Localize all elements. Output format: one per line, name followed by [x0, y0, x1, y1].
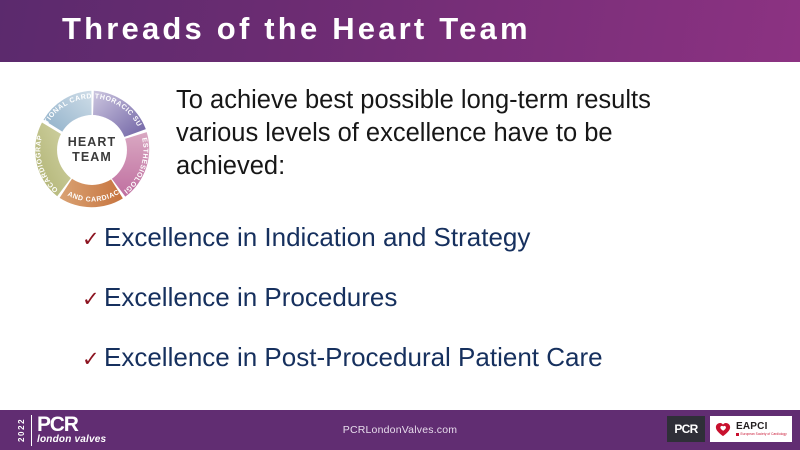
list-item: ✓ Excellence in Indication and Strategy — [82, 222, 782, 282]
badge-pcr-label: PCR — [674, 422, 697, 436]
slide-header: Threads of the Heart Team — [0, 0, 800, 62]
badge-eapci-label: EAPCI — [736, 421, 787, 432]
heart-icon — [714, 420, 732, 438]
badge-eapci-subrow: European Society of Cardiology — [736, 432, 787, 437]
heart-team-donut-diagram: INTERVENTIONAL CARDIOLOGIST CARDIOTHORAC… — [16, 74, 168, 226]
list-item-label: Excellence in Post-Procedural Patient Ca… — [104, 342, 603, 372]
intro-paragraph: To achieve best possible long-term resul… — [176, 84, 692, 183]
check-icon: ✓ — [82, 289, 104, 310]
list-item: ✓ Excellence in Procedures — [82, 282, 782, 342]
donut-hole — [57, 115, 127, 185]
donut-chart-svg: INTERVENTIONAL CARDIOLOGIST CARDIOTHORAC… — [16, 74, 168, 226]
badge-pcr: PCR — [667, 416, 705, 442]
badge-eapci-text: EAPCI European Society of Cardiology — [736, 421, 787, 437]
slide-body: INTERVENTIONAL CARDIOLOGIST CARDIOTHORAC… — [0, 62, 800, 410]
square-bullet-icon — [736, 433, 739, 436]
list-item-label: Excellence in Procedures — [104, 282, 397, 312]
check-icon: ✓ — [82, 349, 104, 370]
badge-eapci-sublabel: European Society of Cardiology — [741, 432, 787, 437]
badge-eapci: EAPCI European Society of Cardiology — [710, 416, 792, 442]
slide-footer: 2022 PCR london valves PCRLondonValves.c… — [0, 410, 800, 450]
check-icon: ✓ — [82, 229, 104, 250]
page-title: Threads of the Heart Team — [62, 11, 531, 47]
footer-partner-badges: PCR EAPCI European Society of Cardiology — [667, 416, 792, 442]
excellence-bullet-list: ✓ Excellence in Indication and Strategy … — [82, 222, 782, 402]
list-item-label: Excellence in Indication and Strategy — [104, 222, 530, 252]
list-item: ✓ Excellence in Post-Procedural Patient … — [82, 342, 782, 402]
